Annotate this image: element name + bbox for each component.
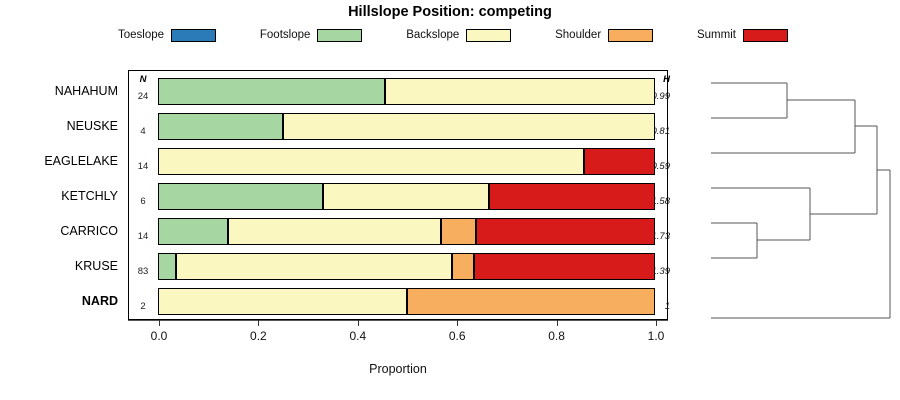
x-axis-tick [457,320,458,326]
bar-row[interactable] [159,78,656,105]
bar-row[interactable] [159,218,656,245]
x-axis-tick-label: 0.4 [338,329,378,343]
bar-segment-backslope[interactable] [158,148,584,175]
bar-row[interactable] [159,113,656,140]
bar-segment-summit[interactable] [474,253,655,280]
bar-row[interactable] [159,148,656,175]
bar-segment-summit[interactable] [476,218,655,245]
bar-segment-backslope[interactable] [385,78,655,105]
x-axis-tick [159,320,160,326]
bar-segment-summit[interactable] [584,148,655,175]
x-axis-tick-label: 1.0 [636,329,676,343]
x-axis-title: Proportion [128,362,668,376]
bar-segment-footslope[interactable] [158,78,385,105]
bar-segment-backslope[interactable] [228,218,441,245]
x-axis: 0.00.20.40.60.81.0 [128,320,668,360]
bar-segment-footslope[interactable] [158,113,282,140]
bar-row[interactable] [159,288,656,315]
dendrogram-svg [700,60,900,340]
x-axis-tick-label: 0.6 [437,329,477,343]
bar-segment-backslope[interactable] [283,113,656,140]
bar-segment-backslope[interactable] [158,288,407,315]
bar-segment-footslope[interactable] [158,218,228,245]
x-axis-tick-label: 0.2 [238,329,278,343]
bar-segment-footslope[interactable] [158,253,176,280]
x-axis-tick [358,320,359,326]
bar-segment-shoulder[interactable] [441,218,476,245]
bar-segment-backslope[interactable] [323,183,489,210]
bar-row[interactable] [159,183,656,210]
x-axis-tick-label: 0.8 [537,329,577,343]
x-axis-tick [258,320,259,326]
x-axis-tick-label: 0.0 [139,329,179,343]
x-axis-line [128,320,668,321]
bar-segment-backslope[interactable] [176,253,451,280]
dendrogram [700,60,900,340]
chart-root: Hillslope Position: competing ToeslopeFo… [0,0,900,400]
bar-segment-shoulder[interactable] [452,253,475,280]
bar-segment-footslope[interactable] [158,183,323,210]
bar-segment-summit[interactable] [489,183,655,210]
x-axis-tick [557,320,558,326]
bar-segment-shoulder[interactable] [407,288,656,315]
bar-row[interactable] [159,253,656,280]
x-axis-tick [656,320,657,326]
